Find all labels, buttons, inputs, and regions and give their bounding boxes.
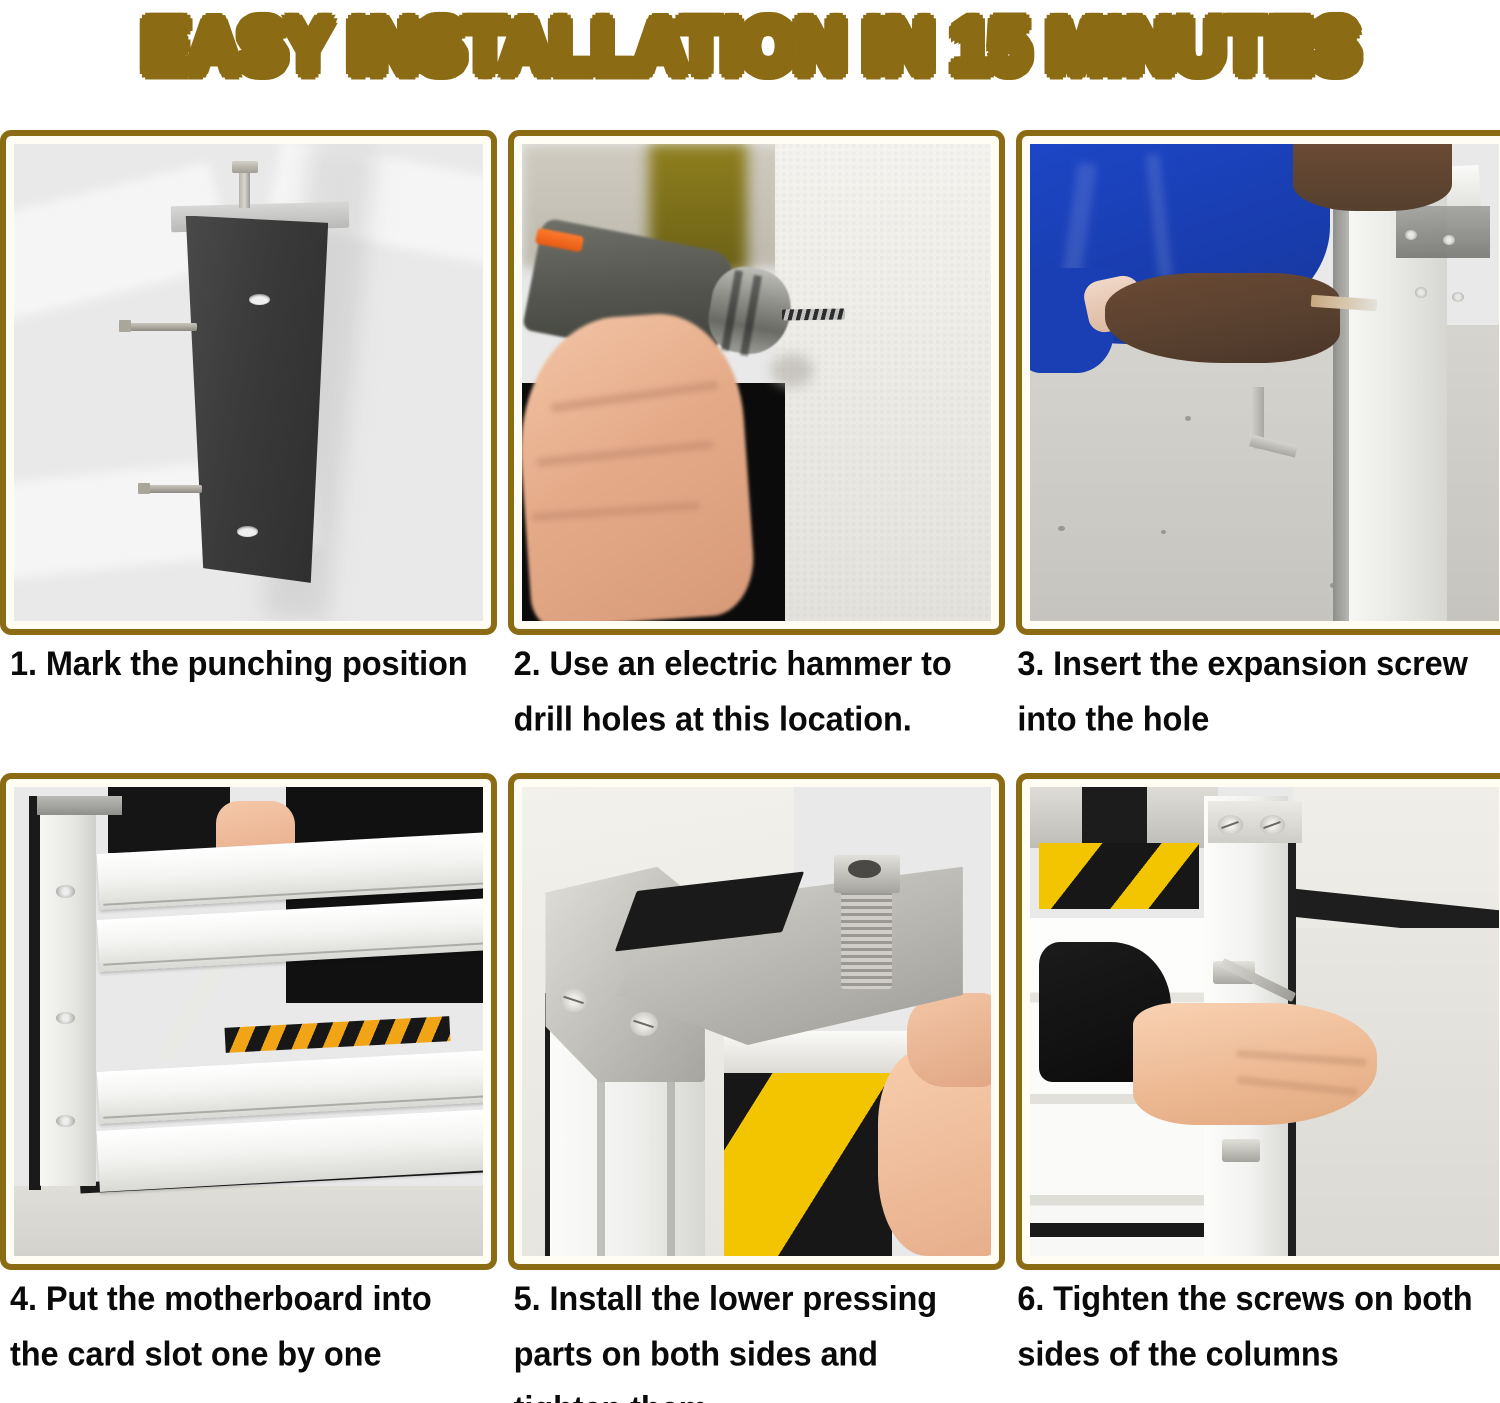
step-3-image-cell	[1016, 130, 1500, 635]
step-3-photo	[1030, 144, 1499, 621]
installation-guide-page: EASY INSTALLATION IN 15 MINUTES	[0, 0, 1500, 1403]
step-5-photo-frame	[508, 773, 1005, 1270]
steps-row-2-captions: 4. Put the motherboard into the card slo…	[0, 1271, 1500, 1403]
step-6-photo-frame	[1016, 773, 1500, 1270]
step-2-photo-frame	[508, 130, 1005, 635]
header-banner: EASY INSTALLATION IN 15 MINUTES	[0, 0, 1500, 92]
step-1-caption: 1. Mark the punching position	[10, 636, 485, 691]
step-1-image-cell	[0, 130, 497, 635]
step-4-caption: 4. Put the motherboard into the card slo…	[10, 1271, 485, 1382]
step-5-photo	[522, 787, 991, 1256]
step-3-caption: 3. Insert the expansion screw into the h…	[1017, 636, 1492, 747]
step-2-image-cell	[508, 130, 1005, 635]
steps-grid: 1. Mark the punching position 2. Use an …	[0, 96, 1500, 1403]
screw-icon	[560, 989, 588, 1012]
page-title: EASY INSTALLATION IN 15 MINUTES	[142, 9, 1358, 83]
steps-row-2-images	[0, 773, 1500, 1270]
step-2-caption-cell: 2. Use an electric hammer to drill holes…	[504, 636, 997, 741]
step-4-caption-cell: 4. Put the motherboard into the card slo…	[0, 1271, 493, 1403]
mark-hole-lower-icon	[237, 526, 259, 537]
screw-icon	[1260, 815, 1285, 835]
step-5-image-cell	[508, 773, 1005, 1270]
step-4-photo-frame	[0, 773, 497, 1270]
step-1-caption-cell: 1. Mark the punching position	[0, 636, 493, 741]
steps-row-1-captions: 1. Mark the punching position 2. Use an …	[0, 636, 1500, 741]
step-1-photo	[14, 144, 483, 621]
hazard-stripe-icon	[225, 1016, 451, 1053]
step-4-photo	[14, 787, 483, 1256]
drill-bit-icon	[782, 308, 846, 321]
step-5-caption-cell: 5. Install the lower pressing parts on b…	[504, 1271, 997, 1403]
step-3-caption-cell: 3. Insert the expansion screw into the h…	[1007, 636, 1500, 741]
step-5-caption: 5. Install the lower pressing parts on b…	[514, 1271, 989, 1403]
screw-icon	[1218, 815, 1243, 835]
hazard-stripe-icon	[724, 1045, 893, 1256]
step-6-caption: 6. Tighten the screws on both sides of t…	[1017, 1271, 1492, 1382]
steps-row-1-images	[0, 130, 1500, 635]
step-6-caption-cell: 6. Tighten the screws on both sides of t…	[1007, 1271, 1500, 1403]
step-4-image-cell	[0, 773, 497, 1270]
step-3-photo-frame	[1016, 130, 1500, 635]
step-2-photo	[522, 144, 991, 621]
step-6-image-cell	[1016, 773, 1500, 1270]
step-1-photo-frame	[0, 130, 497, 635]
screw-icon	[630, 1012, 658, 1035]
hazard-stripe-icon	[1039, 843, 1198, 909]
step-2-caption: 2. Use an electric hammer to drill holes…	[514, 636, 989, 747]
step-6-photo	[1030, 787, 1499, 1256]
